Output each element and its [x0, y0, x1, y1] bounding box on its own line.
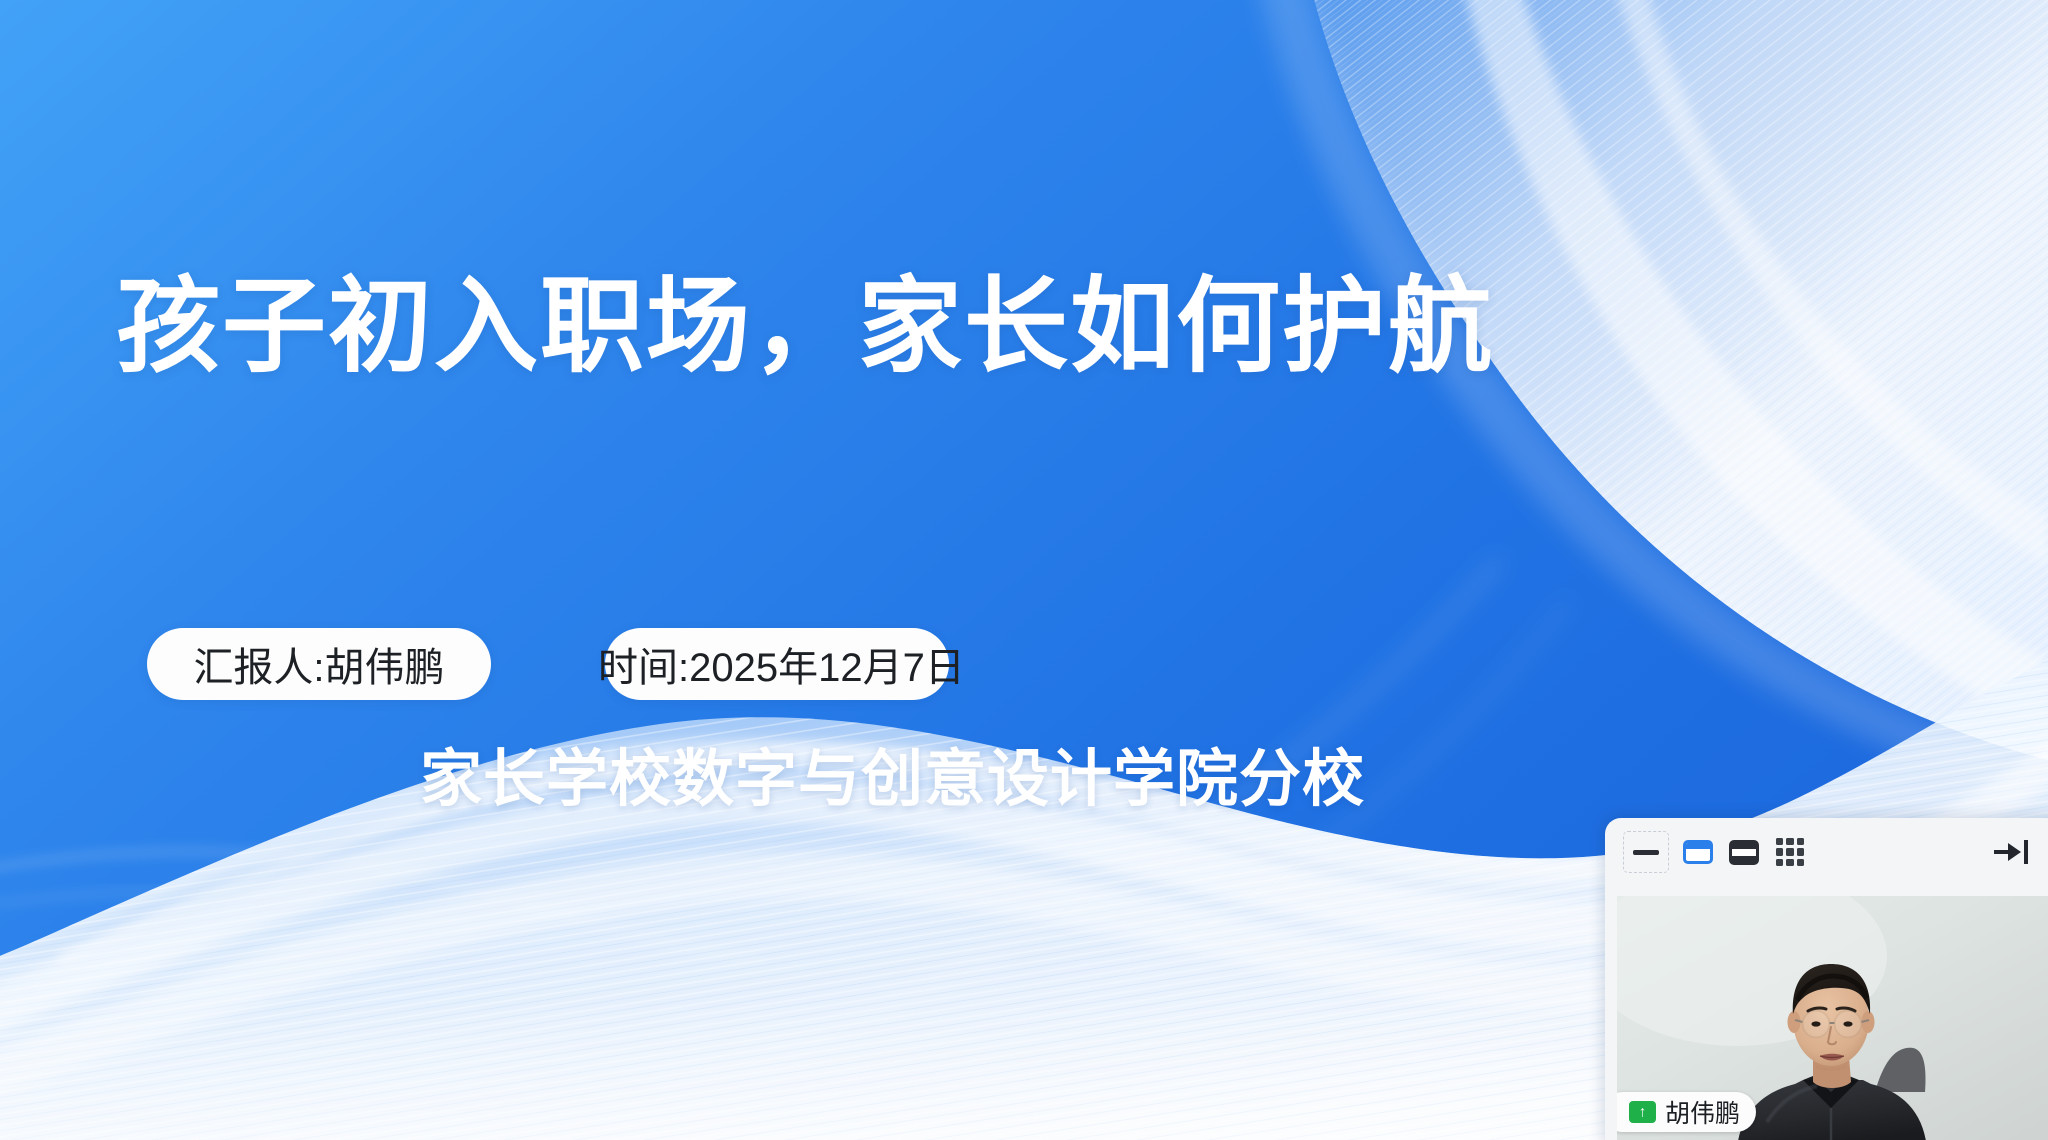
collapse-right-button[interactable]	[1988, 831, 2034, 873]
collapse-right-icon	[1994, 839, 2028, 865]
participant-name-badge: ↑ 胡伟鹏	[1617, 1092, 1756, 1132]
date-pill: 时间:2025年12月7日	[605, 628, 949, 700]
video-panel[interactable]: ↑ 胡伟鹏	[1605, 818, 2048, 1140]
participant-name: 胡伟鹏	[1665, 1094, 1740, 1130]
date-pill-label: 时间:2025年12月7日	[598, 635, 965, 693]
grid-view-icon	[1776, 838, 1804, 866]
presentation-slide: 孩子初入职场，家长如何护航 汇报人:胡伟鹏 时间:2025年12月7日 家长学校…	[0, 0, 2048, 1140]
grid-view-button[interactable]	[1767, 831, 1813, 873]
slide-title: 孩子初入职场，家长如何护航	[116, 268, 1494, 388]
split-view-icon	[1729, 840, 1759, 865]
minimize-button[interactable]	[1623, 831, 1669, 873]
slide-subtitle: 家长学校数字与创意设计学院分校	[420, 728, 1365, 818]
slide-meta-row: 汇报人:胡伟鹏 时间:2025年12月7日	[0, 628, 2048, 704]
minimize-icon	[1633, 850, 1659, 855]
presenter-pill: 汇报人:胡伟鹏	[147, 628, 491, 700]
video-panel-toolbar	[1605, 818, 2048, 886]
screen-share-icon: ↑	[1629, 1101, 1656, 1123]
participant-video-tile[interactable]: ↑ 胡伟鹏	[1617, 896, 2048, 1140]
presenter-pill-label: 汇报人:胡伟鹏	[193, 635, 444, 693]
speaker-view-icon	[1683, 840, 1713, 864]
split-view-button[interactable]	[1721, 831, 1767, 873]
speaker-view-button[interactable]	[1675, 831, 1721, 873]
